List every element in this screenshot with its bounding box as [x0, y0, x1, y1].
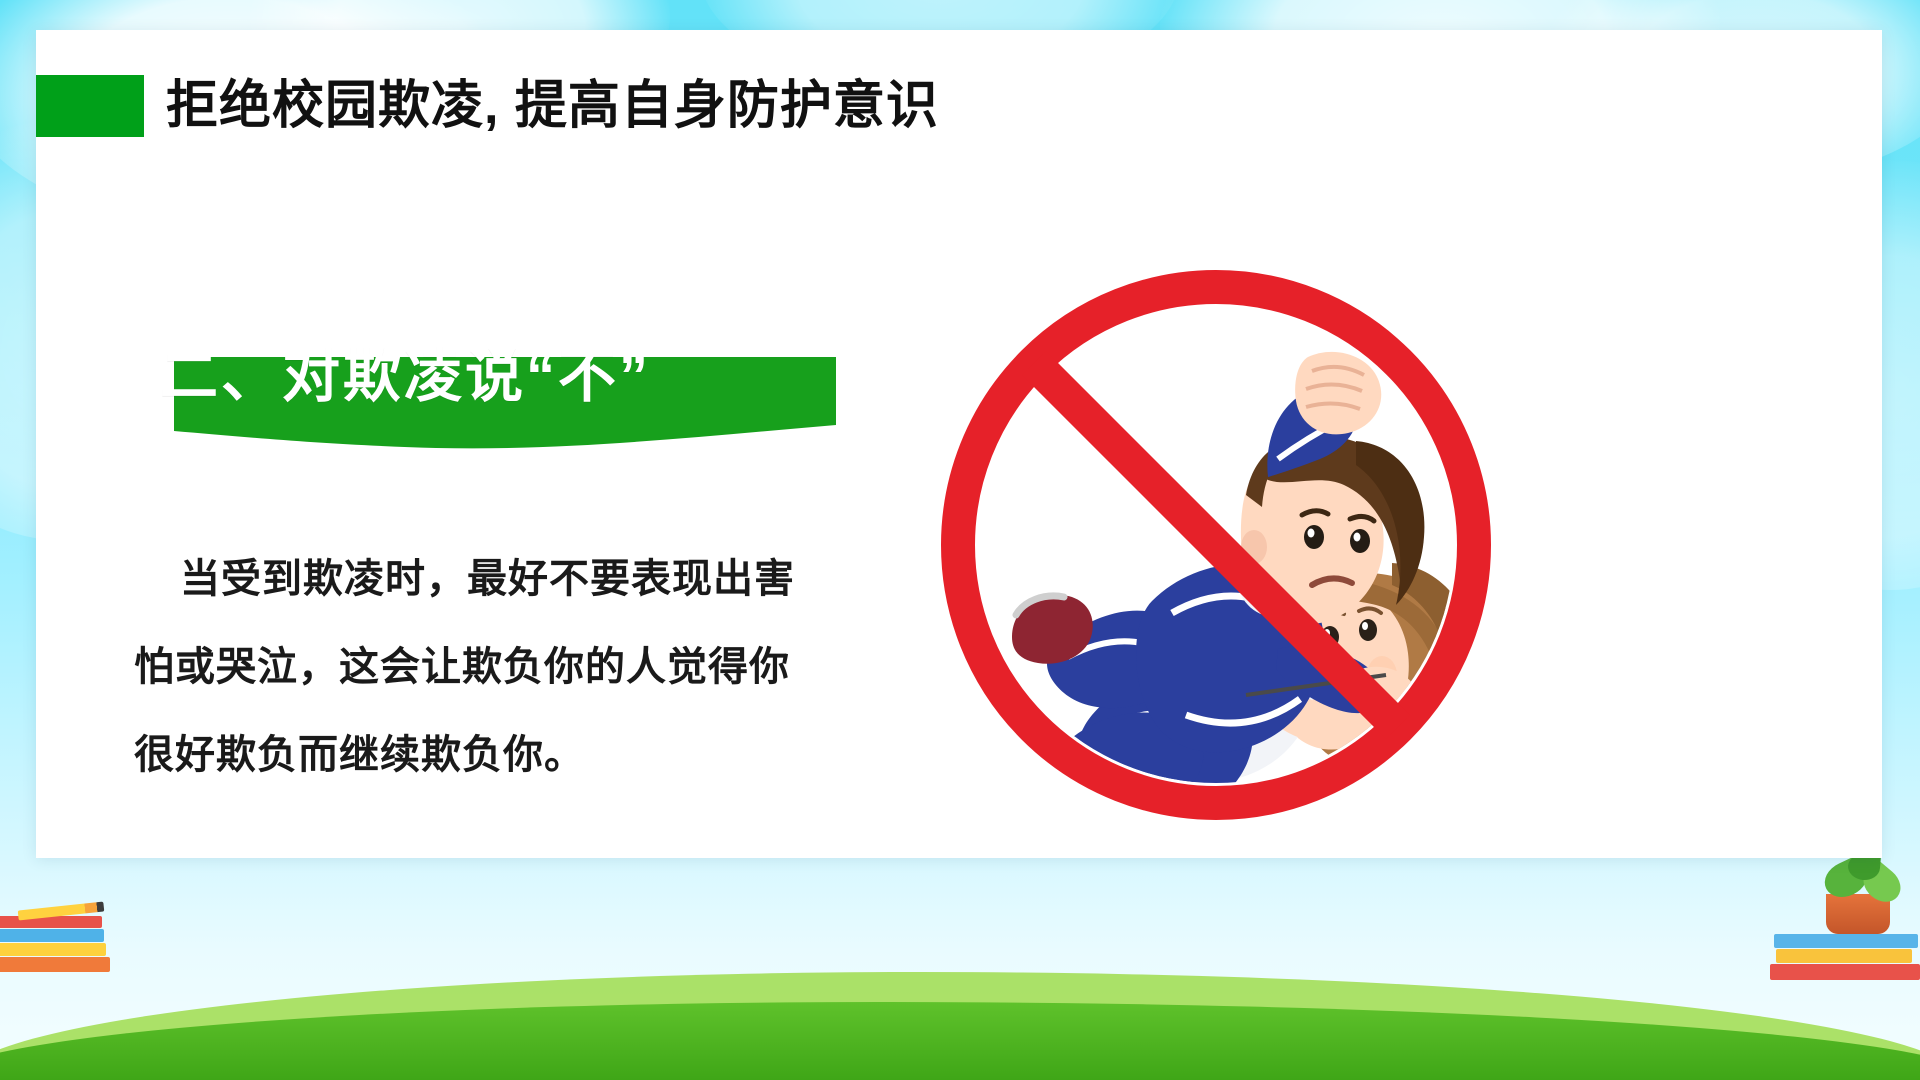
book-icon — [1774, 934, 1918, 948]
no-bullying-illustration — [916, 245, 1516, 845]
book-icon — [0, 916, 102, 928]
slide-header: 拒绝校园欺凌, 提高自身防护意识 — [36, 62, 1882, 150]
no-bullying-sign-icon — [916, 245, 1516, 845]
book-icon — [0, 943, 106, 956]
header-accent-block — [36, 75, 144, 137]
body-paragraph: 当受到欺凌时，最好不要表现出害 怕或哭泣，这会让欺负你的人觉得你 很好欺负而继续… — [134, 535, 854, 799]
section-banner: 二、对欺凌说“不” — [136, 325, 836, 450]
book-icon — [0, 929, 104, 942]
body-line: 当受到欺凌时，最好不要表现出害 — [134, 535, 854, 623]
page-title: 拒绝校园欺凌, 提高自身防护意识 — [166, 80, 939, 132]
body-line: 怕或哭泣，这会让欺负你的人觉得你 — [134, 623, 854, 711]
books-decoration-right — [1740, 860, 1920, 980]
book-icon — [1770, 964, 1920, 980]
grass-decoration — [0, 930, 1920, 1080]
section-banner-label: 二、对欺凌说“不” — [160, 345, 651, 409]
books-decoration-left — [0, 902, 130, 972]
book-icon — [1776, 949, 1912, 963]
slide-root: 拒绝校园欺凌, 提高自身防护意识 二、对欺凌说“不” 当受到欺凌时，最好不要表现… — [0, 0, 1920, 1080]
content-card: 拒绝校园欺凌, 提高自身防护意识 二、对欺凌说“不” 当受到欺凌时，最好不要表现… — [36, 30, 1882, 858]
body-line: 很好欺负而继续欺负你。 — [134, 711, 854, 799]
book-icon — [0, 957, 110, 972]
